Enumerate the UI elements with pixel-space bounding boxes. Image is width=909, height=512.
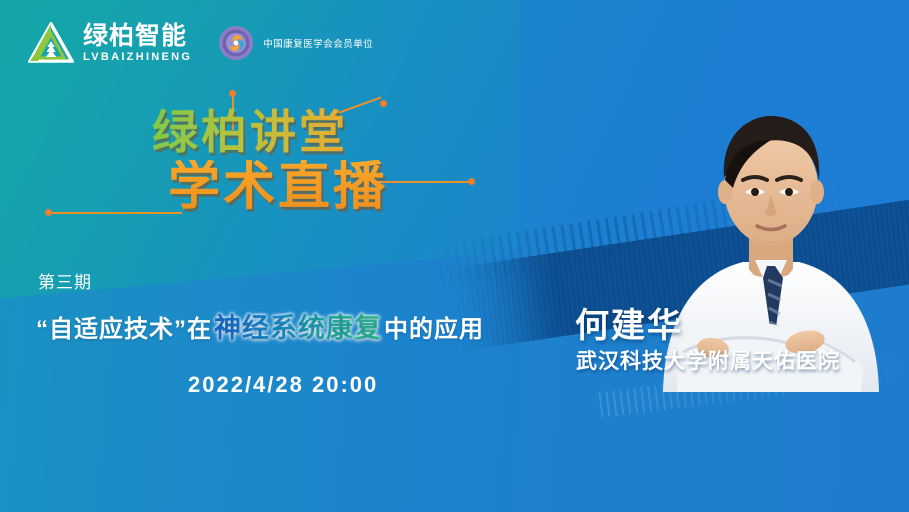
decor-dot-top xyxy=(229,90,236,97)
speaker-name: 何建华 xyxy=(575,298,683,347)
header-logos: 绿柏智能 LVBAIZHINENG 中国康复医学会会员单位 xyxy=(28,22,373,64)
brand-name-en: LVBAIZHINENG xyxy=(83,52,192,63)
title-line-2: 学术直播 xyxy=(168,160,482,215)
topic-highlight: 神经系统康复 xyxy=(212,313,384,343)
poster-title: 绿柏讲堂 学术直播 xyxy=(152,108,482,215)
triangle-tree-logo-icon xyxy=(28,22,74,64)
title-line-1: 绿柏讲堂 xyxy=(152,108,482,156)
topic-suffix: 中的应用 xyxy=(384,316,484,343)
livestream-poster: 绿柏智能 LVBAIZHINENG 中国康复医学会会员单位 xyxy=(0,0,909,512)
session-topic: “自适应技术”在神经系统康复中的应用 xyxy=(36,306,484,345)
brand-name-cn: 绿柏智能 xyxy=(83,24,192,49)
episode-label: 第三期 xyxy=(38,268,92,293)
speaker-organization: 武汉科技大学附属天佑医院 xyxy=(576,345,840,375)
membership-label: 中国康复医学会会员单位 xyxy=(263,36,373,50)
brand-logo[interactable]: 绿柏智能 LVBAIZHINENG xyxy=(28,22,192,64)
association-seal-icon xyxy=(218,25,254,61)
session-datetime: 2022/4/28 20:00 xyxy=(188,372,378,398)
decor-dot-diagonal xyxy=(380,100,387,107)
brand-wordmark: 绿柏智能 LVBAIZHINENG xyxy=(83,24,192,63)
topic-prefix: “自适应技术”在 xyxy=(36,316,212,343)
membership-badge[interactable]: 中国康复医学会会员单位 xyxy=(218,25,373,61)
decor-dot-left xyxy=(45,209,52,216)
